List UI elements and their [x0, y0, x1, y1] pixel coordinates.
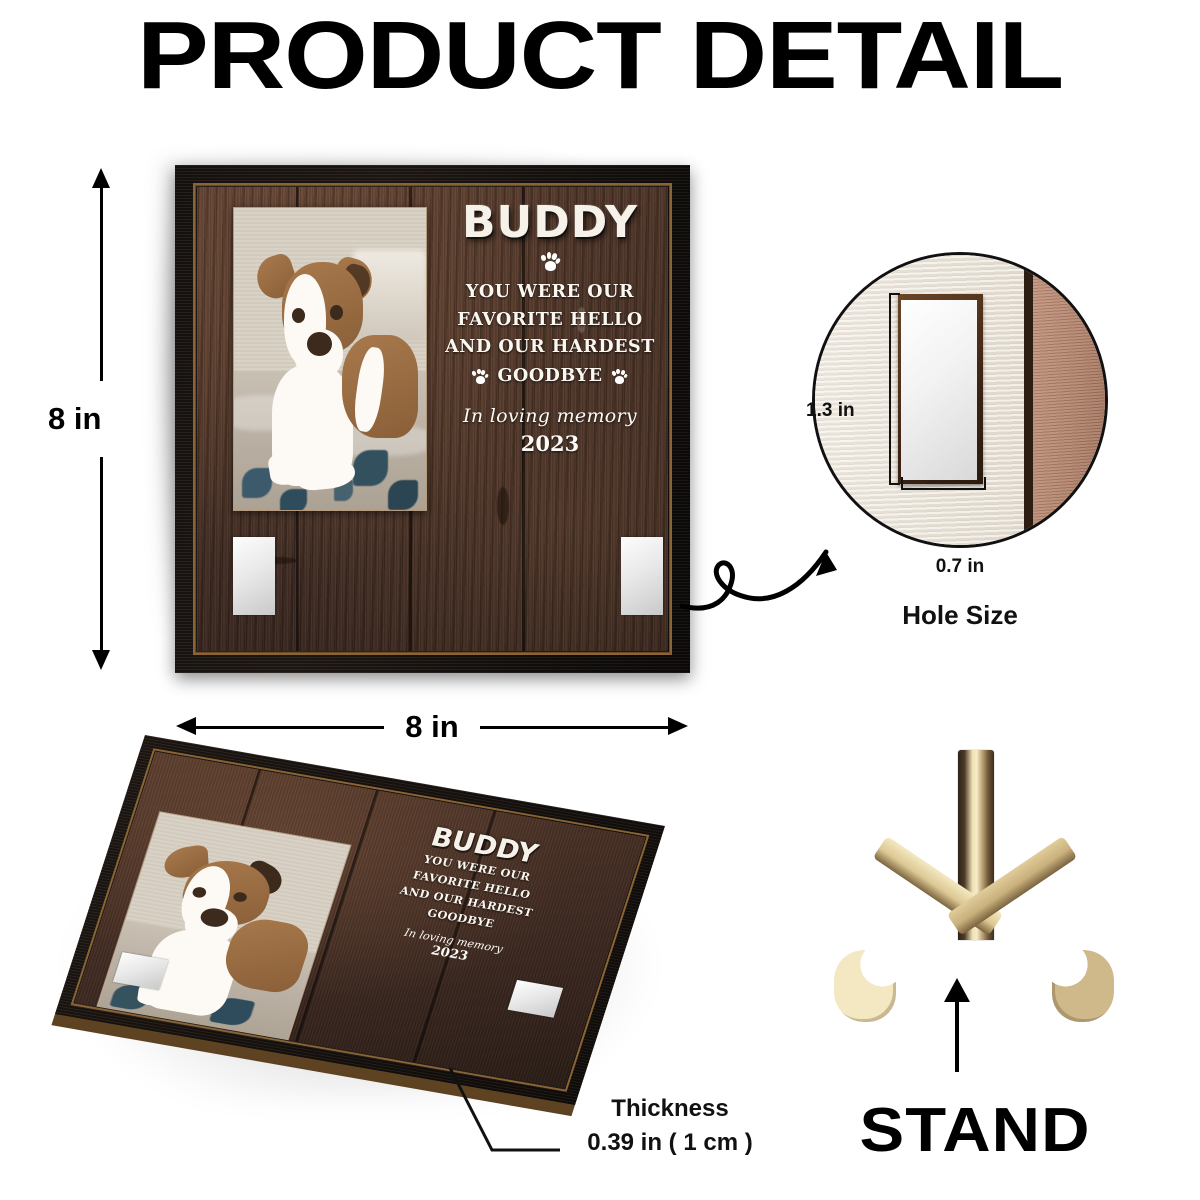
arrowhead-right-icon — [668, 717, 688, 735]
width-dimension-label: 8 in — [395, 707, 468, 747]
product-angled-view: BUDDY YOU WERE OUR FAVORITE HELLO AND OU… — [40, 760, 680, 1120]
dimension-line-bottom — [100, 457, 103, 652]
memorial-year: 2023 — [435, 431, 665, 456]
thickness-label: Thickness — [540, 1092, 800, 1126]
hole-height-dimension-line — [889, 293, 891, 485]
pet-name: BUDDY — [435, 201, 665, 245]
frame-wood-panel: BUDDY YOU WERE OUR FAVORITE HELLO AND OU… — [197, 187, 668, 651]
product-detail-page: PRODUCT DETAIL 8 in — [0, 0, 1200, 1200]
goodbye-text: GOODBYE — [497, 363, 602, 391]
hole-width-dimension-line — [901, 488, 986, 490]
angled-dog-photo — [94, 811, 351, 1046]
stand-illustration — [820, 750, 1130, 1050]
height-dimension: 8 in — [100, 168, 102, 670]
dimension-line-top — [100, 186, 103, 381]
hole-width-label: 0.7 in — [812, 556, 1108, 578]
goodbye-row: GOODBYE — [435, 363, 665, 391]
angled-memorial-text: BUDDY YOU WERE OUR FAVORITE HELLO AND OU… — [327, 811, 609, 982]
arrowhead-left-icon — [176, 717, 196, 735]
dimension-line-right — [480, 726, 670, 729]
hole-slot-left — [233, 537, 275, 615]
arrowhead-down-icon — [92, 650, 110, 670]
hole-slot-opening — [901, 300, 977, 481]
paw-print-left-icon — [472, 369, 488, 385]
stand-hook-left — [834, 950, 896, 1022]
quote-line-2: FAVORITE HELLO — [435, 307, 665, 335]
quote-line-3: AND OUR HARDEST — [435, 334, 665, 362]
rose-wood-surface — [1033, 255, 1105, 545]
stand-hook-right — [1052, 950, 1114, 1022]
stand-caption: STAND — [808, 1095, 1143, 1166]
thickness-value: 0.39 in ( 1 cm ) — [540, 1126, 800, 1160]
height-dimension-label: 8 in — [42, 398, 107, 440]
width-dimension: 8 in — [176, 726, 688, 728]
dog-photo — [233, 207, 427, 511]
in-loving-memory-text: In loving memory — [435, 405, 665, 427]
frame-edge-gap — [1024, 255, 1033, 545]
paw-print-right-icon — [612, 369, 628, 385]
angled-hole-slot-right — [508, 980, 564, 1018]
hole-slot-right — [621, 537, 663, 615]
memorial-text-block: BUDDY YOU WERE OUR FAVORITE HELLO AND OU… — [435, 201, 665, 456]
hole-size-detail-circle — [812, 252, 1108, 548]
dimension-line-left — [194, 726, 384, 729]
product-front-view: BUDDY YOU WERE OUR FAVORITE HELLO AND OU… — [175, 165, 690, 673]
hole-size-caption: Hole Size — [812, 600, 1108, 631]
paw-print-icon — [435, 252, 665, 277]
stand-up-arrow-icon — [955, 1000, 959, 1072]
hole-height-label: 1.3 in — [806, 400, 855, 422]
thickness-callout: Thickness 0.39 in ( 1 cm ) — [540, 1092, 800, 1160]
page-title: PRODUCT DETAIL — [0, 8, 1200, 104]
arrowhead-up-icon — [92, 168, 110, 188]
quote-line-1: YOU WERE OUR — [435, 279, 665, 307]
dog-illustration — [234, 208, 426, 510]
angled-dog-illustration — [96, 812, 351, 1045]
